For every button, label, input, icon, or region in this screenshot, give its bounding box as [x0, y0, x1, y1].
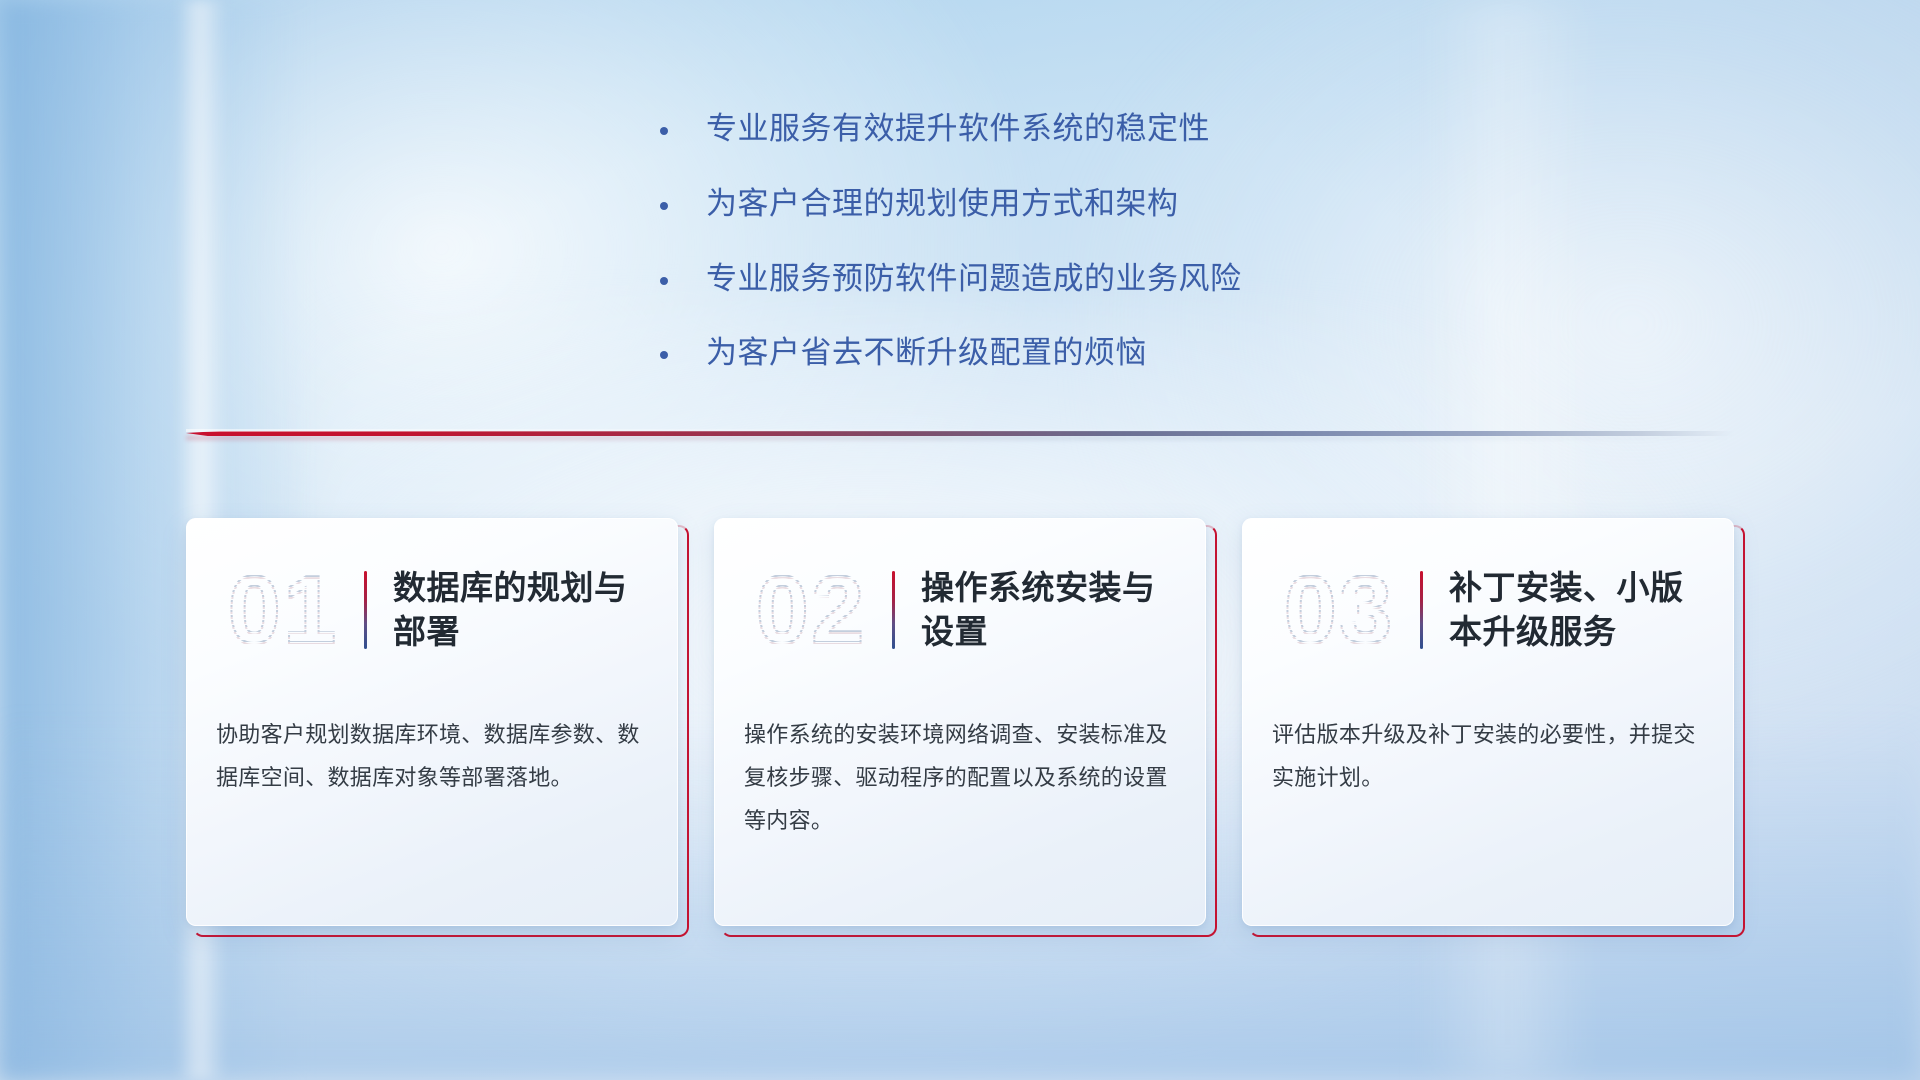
service-card-02[interactable]: 02 02 操作系统安装与设置 操作系统的安装环境网络调查、安装标准及复核步骤、…: [714, 518, 1206, 926]
bullet-item: 为客户合理的规划使用方式和架构: [660, 183, 1420, 226]
card-divider-bar: [1420, 571, 1423, 649]
bullet-dot-icon: [660, 277, 668, 285]
divider-shadow: [186, 436, 1734, 440]
card-surface: 03 03 补丁安装、小版本升级服务 评估版本升级及补丁安装的必要性，并提交实施…: [1242, 518, 1734, 926]
bullet-dot-icon: [660, 351, 668, 359]
card-number-label: 01: [208, 555, 358, 665]
card-title: 补丁安装、小版本升级服务: [1449, 566, 1699, 653]
divider-sheen: [186, 429, 1734, 432]
card-description: 协助客户规划数据库环境、数据库参数、数据库空间、数据库对象等部署落地。: [216, 714, 648, 800]
card-number-watermark: 03 03: [1264, 555, 1414, 665]
card-header: 03 03 补丁安装、小版本升级服务: [1242, 536, 1734, 684]
bullet-item-label: 为客户省去不断升级配置的烦恼: [706, 332, 1147, 375]
section-divider: [186, 425, 1734, 441]
bullet-dot-icon: [660, 202, 668, 210]
card-divider-bar: [364, 571, 367, 649]
card-divider-bar: [892, 571, 895, 649]
card-description: 操作系统的安装环境网络调查、安装标准及复核步骤、驱动程序的配置以及系统的设置等内…: [744, 714, 1176, 843]
service-card-03[interactable]: 03 03 补丁安装、小版本升级服务 评估版本升级及补丁安装的必要性，并提交实施…: [1242, 518, 1734, 926]
card-surface: 02 02 操作系统安装与设置 操作系统的安装环境网络调查、安装标准及复核步骤、…: [714, 518, 1206, 926]
slide-root: 专业服务有效提升软件系统的稳定性 为客户合理的规划使用方式和架构 专业服务预防软…: [0, 0, 1920, 1080]
bullet-item: 专业服务预防软件问题造成的业务风险: [660, 258, 1420, 301]
card-header: 02 02 操作系统安装与设置: [714, 536, 1206, 684]
card-title: 操作系统安装与设置: [921, 566, 1171, 653]
bullet-dot-icon: [660, 127, 668, 135]
card-number-watermark: 02 02: [736, 555, 886, 665]
service-card-list: 01 01 数据库的规划与部署 协助客户规划数据库环境、数据库参数、数据库空间、…: [186, 518, 1734, 926]
bullet-item: 为客户省去不断升级配置的烦恼: [660, 332, 1420, 375]
bullet-item-label: 专业服务有效提升软件系统的稳定性: [706, 108, 1210, 151]
service-card-01[interactable]: 01 01 数据库的规划与部署 协助客户规划数据库环境、数据库参数、数据库空间、…: [186, 518, 678, 926]
card-title: 数据库的规划与部署: [393, 566, 643, 653]
benefits-bullet-list: 专业服务有效提升软件系统的稳定性 为客户合理的规划使用方式和架构 专业服务预防软…: [660, 108, 1420, 407]
card-header: 01 01 数据库的规划与部署: [186, 536, 678, 684]
bullet-item-label: 为客户合理的规划使用方式和架构: [706, 183, 1179, 226]
bullet-item: 专业服务有效提升软件系统的稳定性: [660, 108, 1420, 151]
card-number-label: 02: [736, 555, 886, 665]
bullet-item-label: 专业服务预防软件问题造成的业务风险: [706, 258, 1242, 301]
card-surface: 01 01 数据库的规划与部署 协助客户规划数据库环境、数据库参数、数据库空间、…: [186, 518, 678, 926]
card-description: 评估版本升级及补丁安装的必要性，并提交实施计划。: [1272, 714, 1704, 800]
card-number-watermark: 01 01: [208, 555, 358, 665]
card-number-label: 03: [1264, 555, 1414, 665]
